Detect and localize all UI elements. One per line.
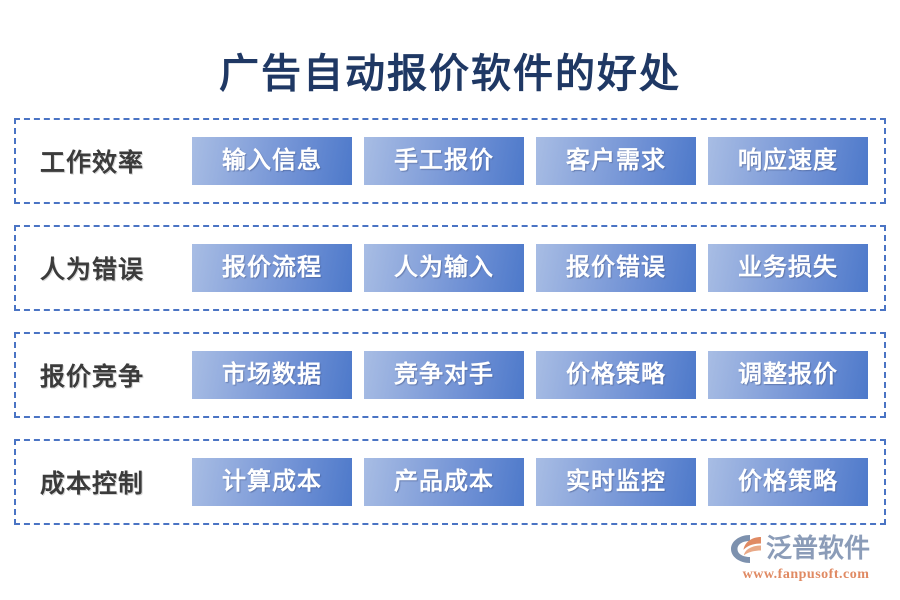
row-label-2: 人为错误: [26, 250, 192, 286]
category-row-1: 工作效率 输入信息 手工报价 客户需求 响应速度: [14, 118, 886, 204]
category-row-4: 成本控制 计算成本 产品成本 实时监控 价格策略: [14, 439, 886, 525]
brand-logo: 泛普软件 www.fanpusoft.com: [730, 532, 882, 586]
row-items-3: 市场数据 竞争对手 价格策略 调整报价: [192, 351, 876, 399]
fanpu-swoosh-logo-icon: [730, 534, 762, 564]
item-box[interactable]: 手工报价: [364, 137, 524, 185]
page-title: 广告自动报价软件的好处: [0, 48, 900, 100]
row-label-3: 报价竞争: [26, 357, 192, 393]
item-box[interactable]: 市场数据: [192, 351, 352, 399]
row-items-1: 输入信息 手工报价 客户需求 响应速度: [192, 137, 876, 185]
row-label-1: 工作效率: [26, 143, 192, 179]
item-box[interactable]: 响应速度: [708, 137, 868, 185]
category-row-2: 人为错误 报价流程 人为输入 报价错误 业务损失: [14, 225, 886, 311]
item-box[interactable]: 产品成本: [364, 458, 524, 506]
item-box[interactable]: 业务损失: [708, 244, 868, 292]
row-items-4: 计算成本 产品成本 实时监控 价格策略: [192, 458, 876, 506]
logo-website-url: www.fanpusoft.com: [730, 567, 882, 583]
item-box[interactable]: 客户需求: [536, 137, 696, 185]
item-box[interactable]: 人为输入: [364, 244, 524, 292]
item-box[interactable]: 价格策略: [536, 351, 696, 399]
category-row-3: 报价竞争 市场数据 竞争对手 价格策略 调整报价: [14, 332, 886, 418]
item-box[interactable]: 调整报价: [708, 351, 868, 399]
item-box[interactable]: 价格策略: [708, 458, 868, 506]
logo-top-row: 泛普软件: [730, 532, 882, 566]
item-box[interactable]: 报价流程: [192, 244, 352, 292]
item-box[interactable]: 报价错误: [536, 244, 696, 292]
item-box[interactable]: 竞争对手: [364, 351, 524, 399]
rows-container: 工作效率 输入信息 手工报价 客户需求 响应速度 人为错误 报价流程 人为输入 …: [14, 118, 886, 525]
infographic-page: 广告自动报价软件的好处 工作效率 输入信息 手工报价 客户需求 响应速度 人为错…: [0, 0, 900, 600]
row-label-4: 成本控制: [26, 464, 192, 500]
item-box[interactable]: 实时监控: [536, 458, 696, 506]
row-items-2: 报价流程 人为输入 报价错误 业务损失: [192, 244, 876, 292]
logo-company-name: 泛普软件: [766, 534, 870, 564]
item-box[interactable]: 输入信息: [192, 137, 352, 185]
item-box[interactable]: 计算成本: [192, 458, 352, 506]
